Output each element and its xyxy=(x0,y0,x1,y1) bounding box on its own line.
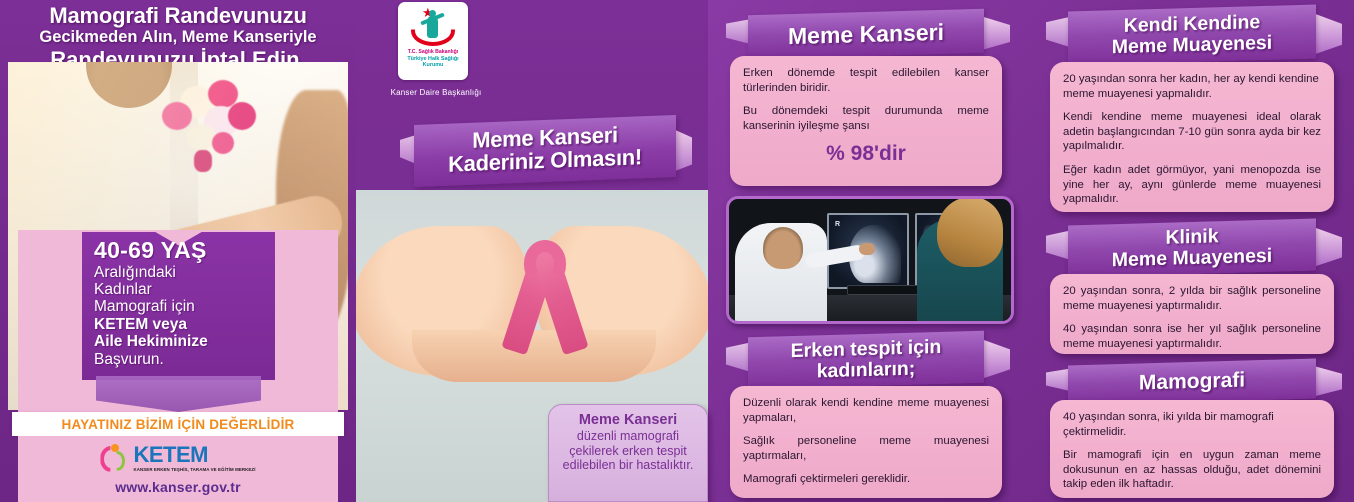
center-note-body: düzenli mamografi çekilerek erken tespit… xyxy=(559,429,697,473)
banner-label: Erken tespit için kadınların; xyxy=(748,331,984,390)
headline-line-1: Mamografi Randevunuzu xyxy=(0,4,356,28)
mammogram-label-r: R xyxy=(835,221,840,228)
age-range: 40-69 YAŞ xyxy=(94,238,276,264)
value-strip-text: HAYATINIZ BİZİM İÇİN DEĞERLİDİR xyxy=(62,417,295,432)
card-paragraph: Eğer kadın adet görmüyor, yani menopozda… xyxy=(1063,163,1321,207)
banner-klinik-muayene: Klinik Meme Muayenesi xyxy=(1046,222,1338,274)
figure-body xyxy=(427,16,438,38)
age-line-1: Aralığındaki xyxy=(94,264,276,281)
banner-erken-tespit: Erken tespit için kadınların; xyxy=(726,334,1006,386)
banner-mamografi: Mamografi xyxy=(1046,362,1338,402)
banner-label: Meme Kanseri xyxy=(748,9,984,60)
ketem-wordmark: KETEM xyxy=(133,445,255,466)
ministry-of-health-logo: ★ T.C. Sağlık Bakanlığı Türkiye Halk Sağ… xyxy=(398,2,468,80)
card-paragraph: 20 yaşından sonra her kadın, her ay kend… xyxy=(1063,72,1321,101)
banner-title-line-2: kadınların; xyxy=(817,359,916,383)
banner-title-line-1: Meme Kanseri xyxy=(788,20,944,49)
ministry-line-3: Kurumu xyxy=(398,62,468,68)
center-note-card: Meme Kanseri düzenli mamografi çekilerek… xyxy=(548,404,708,502)
ketem-logo-area: KETEM KANSER ERKEN TEŞHİS, TARAMA VE EĞİ… xyxy=(18,436,338,502)
age-line-5: Aile Hekiminize xyxy=(94,333,276,350)
age-banner-text: 40-69 YAŞ Aralığındaki Kadınlar Mamograf… xyxy=(86,238,276,368)
age-line-3: Mamografi için xyxy=(94,298,276,315)
ketem-website-url[interactable]: www.kanser.gov.tr xyxy=(115,479,241,495)
photo-doctor-head xyxy=(763,227,803,269)
banner-label: Mamografi xyxy=(1068,359,1316,406)
banner-title-line-2: Meme Muayenesi xyxy=(1112,246,1272,271)
ketem-logo: KETEM KANSER ERKEN TEŞHİS, TARAMA VE EĞİ… xyxy=(100,444,255,474)
age-line-2: Kadınlar xyxy=(94,281,276,298)
banner-meme-kanseri: Meme Kanseri xyxy=(726,12,1006,56)
headline-line-2: Gecikmeden Alın, Meme Kanseriyle xyxy=(0,29,356,47)
ministry-crescent-star-icon: ★ xyxy=(398,2,468,50)
card-erken-tespit: Düzenli olarak kendi kendine meme muayen… xyxy=(730,386,1002,498)
ministry-line-1: T.C. Sağlık Bakanlığı xyxy=(398,50,468,56)
photo-patient-hair xyxy=(937,197,1003,267)
card-paragraph: Erken dönemde tespit edilebilen kanser t… xyxy=(743,66,989,95)
left-panel: Mamografi Randevunuzu Gecikmeden Alın, M… xyxy=(0,0,356,502)
age-line-6: Başvurun. xyxy=(94,351,276,368)
banner-label: Klinik Meme Muayenesi xyxy=(1068,219,1316,278)
card-kendi-kendine: 20 yaşından sonra her kadın, her ay kend… xyxy=(1050,62,1334,212)
ministry-line-2: Türkiye Halk Sağlığı xyxy=(398,56,468,62)
ministry-logo-text: T.C. Sağlık Bakanlığı Türkiye Halk Sağlı… xyxy=(398,50,468,68)
card-paragraph: 40 yaşından sonra, iki yılda bir mamogra… xyxy=(1063,410,1321,439)
banner-title-line-2: Meme Muayenesi xyxy=(1112,33,1272,58)
ministry-caption: Kanser Daire Başkanlığı xyxy=(356,88,516,97)
breast-cancer-awareness-poster: Mamografi Randevunuzu Gecikmeden Alın, M… xyxy=(0,0,1354,502)
pink-awareness-ribbon-icon xyxy=(502,242,588,362)
photo-doctor xyxy=(735,223,827,324)
card-klinik-muayene: 20 yaşından sonra, 2 yılda bir sağlık pe… xyxy=(1050,274,1334,354)
card-paragraph: Düzenli olarak kendi kendine meme muayen… xyxy=(743,396,989,425)
card-paragraph: Bir mamografi için en uygun zaman meme d… xyxy=(1063,448,1321,492)
center-banner: Meme Kanseri Kaderiniz Olmasın! xyxy=(400,120,690,182)
age-line-4: KETEM veya xyxy=(94,316,276,333)
figure-head xyxy=(429,10,436,17)
doctor-reviewing-mammogram-photo: R L xyxy=(726,196,1014,324)
card-meme-kanseri: Erken dönemde tespit edilebilen kanser t… xyxy=(730,56,1002,186)
value-strip: HAYATINIZ BİZİM İÇİN DEĞERLİDİR xyxy=(12,412,344,436)
card-paragraph: Mamografi çektirmeleri gereklidir. xyxy=(743,472,989,487)
banner-title-line-1: Klinik xyxy=(1165,226,1218,248)
center-note-title: Meme Kanseri xyxy=(559,413,697,429)
card-paragraph: Bu dönemdeki tespit durumunda meme kanse… xyxy=(743,104,989,133)
ketem-figure-icon xyxy=(100,444,130,474)
card-paragraph: Kendi kendine meme muayenesi ideal olara… xyxy=(1063,110,1321,154)
survival-rate-highlight: % 98'dir xyxy=(743,142,989,166)
card-mamografi: 40 yaşından sonra, iki yılda bir mamogra… xyxy=(1050,400,1334,498)
banner-title-line-1: Mamografi xyxy=(1139,369,1245,394)
card-paragraph: Sağlık personeline meme muayenesi yaptır… xyxy=(743,434,989,463)
banner-label: Kendi Kendine Meme Muayenesi xyxy=(1068,5,1316,66)
card-paragraph: 20 yaşından sonra, 2 yılda bir sağlık pe… xyxy=(1063,284,1321,313)
card-paragraph: 40 yaşından sonra ise her yıl sağlık per… xyxy=(1063,322,1321,351)
center-banner-label: Meme Kanseri Kaderiniz Olmasın! xyxy=(414,121,676,178)
ketem-subtitle: KANSER ERKEN TEŞHİS, TARAMA VE EĞİTİM ME… xyxy=(133,467,255,472)
banner-kendi-kendine: Kendi Kendine Meme Muayenesi xyxy=(1046,8,1338,62)
photo-doctor-hand xyxy=(859,243,875,255)
